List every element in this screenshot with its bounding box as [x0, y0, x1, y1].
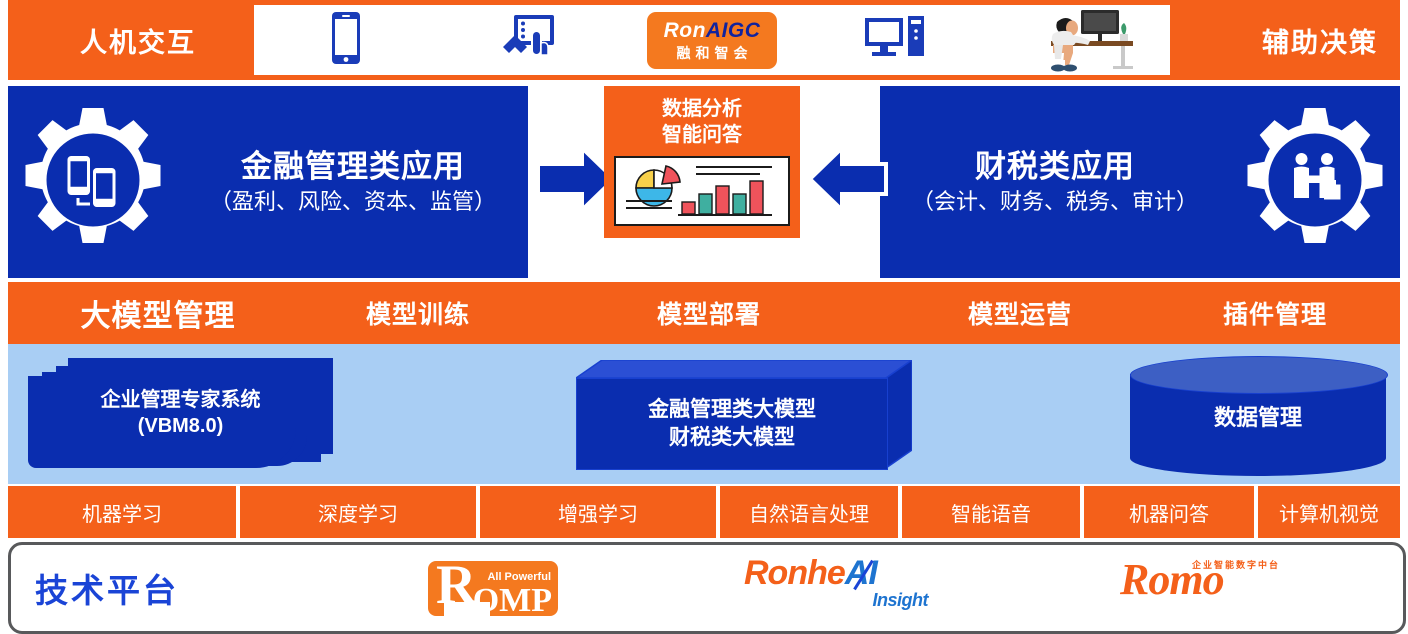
- smartphone-icon: [331, 11, 361, 70]
- gear-mobile-devices-icon: [18, 105, 168, 260]
- tag-nlp[interactable]: 自然语言处理: [720, 486, 898, 538]
- tablet-touch-icon: [501, 13, 557, 68]
- romo-logo: 企业智能数字中台 Romo: [1120, 558, 1310, 618]
- model-deployment-item[interactable]: 模型部署: [528, 295, 890, 331]
- financial-app-textwrap: 金融管理类应用 （盈利、风险、资本、监管）: [178, 149, 528, 216]
- tag-machine-learning[interactable]: 机器学习: [8, 486, 236, 538]
- expert-system-line1: 企业管理专家系统: [101, 387, 261, 413]
- tag-computer-vision[interactable]: 计算机视觉: [1258, 486, 1400, 538]
- person-at-desk-illustration: [1013, 4, 1143, 77]
- gear-mobile-devices-icon-wrap: [8, 105, 178, 260]
- ronheai-word-ronhe: Ronhe: [744, 554, 845, 592]
- model-layer: 企业管理专家系统 (VBM8.0) 金融管理类大模型 财税类大模型 数据管理: [8, 344, 1400, 484]
- model-management-bar: 大模型管理 模型训练 模型部署 模型运营 插件管理: [8, 282, 1400, 344]
- desktop-pc-icon: [864, 14, 926, 67]
- arrow-left-into-analytics: [808, 142, 888, 221]
- tax-finance-app-box[interactable]: 财税类应用 （会计、财务、税务、审计）: [880, 86, 1400, 278]
- ronaigc-word-aigc: AIGC: [706, 19, 761, 42]
- smartphone-icon-cell: [254, 5, 437, 75]
- big-model-cube[interactable]: 金融管理类大模型 财税类大模型: [576, 360, 912, 468]
- expert-system-label: 企业管理专家系统 (VBM8.0): [28, 358, 333, 468]
- ronheai-subtitle: Insight: [873, 590, 929, 611]
- banner-right-label: 辅助决策: [1262, 0, 1378, 80]
- ronaigc-logo: RonAIGC 融和智会: [647, 12, 777, 69]
- data-analysis-card[interactable]: 数据分析 智能问答: [604, 86, 800, 238]
- pie-and-bar-chart-icon: [614, 156, 790, 226]
- model-training-item[interactable]: 模型训练: [308, 295, 528, 331]
- gear-handshake-icon-wrap: [1230, 105, 1400, 260]
- data-management-label: 数据管理: [1130, 374, 1386, 458]
- big-model-line1: 金融管理类大模型: [648, 396, 816, 424]
- data-analysis-line1: 数据分析: [662, 98, 742, 120]
- tag-intelligent-speech[interactable]: 智能语音: [902, 486, 1080, 538]
- romp-letters-omp: OMP: [473, 584, 552, 616]
- tax-app-subtitle: （会计、财务、税务、审计）: [912, 189, 1198, 215]
- ai-technology-tags: 机器学习 深度学习 增强学习 自然语言处理 智能语音 机器问答 计算机视觉: [8, 486, 1400, 538]
- ronaigc-logo-cell: RonAIGC 融和智会: [620, 5, 803, 75]
- expert-system-stack[interactable]: 企业管理专家系统 (VBM8.0): [28, 358, 333, 468]
- financial-app-subtitle: （盈利、风险、资本、监管）: [210, 189, 496, 215]
- expert-system-line2: (VBM8.0): [138, 413, 224, 439]
- tag-reinforcement-learning[interactable]: 增强学习: [480, 486, 716, 538]
- technology-platform-title: 技术平台: [35, 564, 335, 612]
- platform-logos: R All Powerful OMP RonheAI Insight 企业智能数…: [335, 545, 1403, 631]
- romp-letter-r: R: [436, 561, 476, 613]
- desktop-pc-icon-cell: [804, 5, 987, 75]
- tax-app-textwrap: 财税类应用 （会计、财务、税务、审计）: [880, 149, 1230, 216]
- top-banner: 人机交互 辅助决策: [8, 0, 1400, 80]
- model-operations-item[interactable]: 模型运营: [890, 295, 1150, 331]
- data-analysis-title: 数据分析 智能问答: [662, 96, 742, 148]
- gear-handshake-icon: [1240, 105, 1390, 260]
- ronaigc-chinese: 融和智会: [672, 46, 753, 60]
- romo-tagline: 企业智能数字中台: [1192, 558, 1280, 571]
- model-management-title: 大模型管理: [8, 291, 308, 335]
- tag-deep-learning[interactable]: 深度学习: [240, 486, 476, 538]
- romp-logo: R All Powerful OMP: [428, 561, 558, 616]
- data-analysis-line2: 智能问答: [662, 124, 742, 146]
- plugin-management-item[interactable]: 插件管理: [1150, 295, 1400, 331]
- banner-left-label: 人机交互: [80, 0, 196, 80]
- person-at-desk-illustration-cell: [987, 5, 1170, 75]
- ronaigc-word-ron: Ron: [664, 19, 706, 42]
- tag-machine-qa[interactable]: 机器问答: [1084, 486, 1254, 538]
- financial-app-title: 金融管理类应用: [210, 149, 496, 186]
- financial-management-app-box[interactable]: 金融管理类应用 （盈利、风险、资本、监管）: [8, 86, 528, 278]
- romp-tagline: All Powerful: [487, 571, 551, 583]
- technology-platform-bar: 技术平台 R All Powerful OMP RonheAI Insight …: [8, 542, 1406, 634]
- big-model-line2: 财税类大模型: [669, 424, 795, 452]
- ronheai-logo: RonheAI Insight: [744, 556, 934, 620]
- diagram-root: 人机交互 辅助决策: [0, 0, 1408, 632]
- big-model-cube-face: 金融管理类大模型 财税类大模型: [576, 378, 888, 470]
- tax-app-title: 财税类应用: [912, 149, 1198, 186]
- data-management-cylinder[interactable]: 数据管理: [1130, 356, 1386, 468]
- tablet-touch-icon-cell: [437, 5, 620, 75]
- banner-icon-strip: RonAIGC 融和智会: [254, 5, 1170, 75]
